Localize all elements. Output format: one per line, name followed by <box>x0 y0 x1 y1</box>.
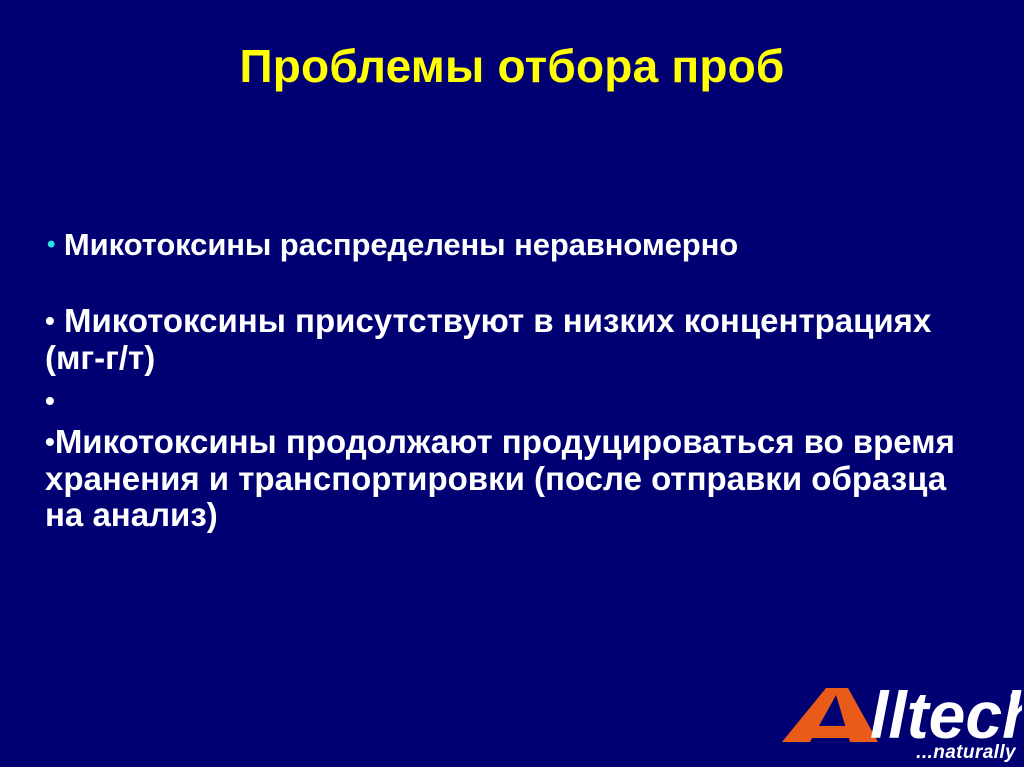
list-item: • Микотоксины распределены неравномерно <box>45 228 985 263</box>
list-item-label: Микотоксины распределены неравномерно <box>55 227 738 262</box>
registered-trademark-icon: ® <box>1010 690 1020 703</box>
bullet-marker-icon: • <box>45 426 55 457</box>
page-title: Проблемы отбора проб <box>0 42 1024 90</box>
list-item: • <box>45 383 985 420</box>
alltech-logo-icon: lltech <box>782 682 1022 744</box>
bullet-marker-icon: • <box>45 305 55 336</box>
list-item: •Микотоксины продолжают продуцироваться … <box>45 424 985 535</box>
list-item-label: Микотоксины присутствуют в низких концен… <box>45 302 931 376</box>
bullet-list: • Микотоксины распределены неравномерно … <box>45 228 985 534</box>
presentation-slide: Проблемы отбора проб • Микотоксины распр… <box>0 0 1024 767</box>
svg-text:lltech: lltech <box>870 682 1022 744</box>
list-item-label: Микотоксины продолжают продуцироваться в… <box>45 423 955 534</box>
alltech-logo: lltech ® ...naturally <box>782 682 1022 767</box>
list-item: • Микотоксины присутствуют в низких конц… <box>45 303 985 377</box>
bullet-marker-icon: • <box>45 385 55 416</box>
logo-tagline: ...naturally <box>916 742 1016 764</box>
